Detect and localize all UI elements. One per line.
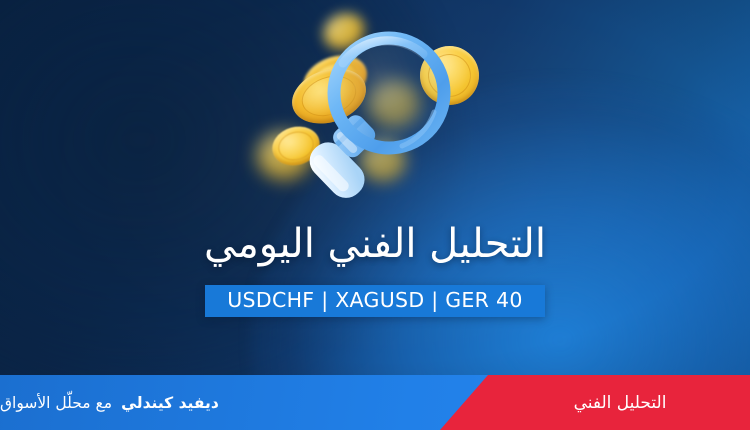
analyst-with-label: مع محلّل الأسواق — [0, 394, 112, 412]
footer-bar: ديفيد كيندلي مع محلّل الأسواق التحليل ال… — [0, 375, 750, 430]
page-title: التحليل الفني اليومي — [0, 222, 750, 267]
category-label: التحليل الفني — [574, 393, 667, 413]
analyst-credit: ديفيد كيندلي مع محلّل الأسواق — [0, 375, 290, 430]
technical-analysis-promo-card: التحليل الفني اليومي USDCHF | XAGUSD | G… — [0, 0, 750, 430]
magnifying-glass-icon — [265, 0, 500, 215]
instruments-badge-row: USDCHF | XAGUSD | GER 40 — [0, 285, 750, 317]
category-label-wrap: التحليل الفني — [490, 375, 750, 430]
hero-illustration — [265, 0, 500, 215]
headline-block: التحليل الفني اليومي — [0, 222, 750, 267]
analyst-name: ديفيد كيندلي — [121, 394, 219, 412]
instruments-badge: USDCHF | XAGUSD | GER 40 — [205, 285, 544, 317]
